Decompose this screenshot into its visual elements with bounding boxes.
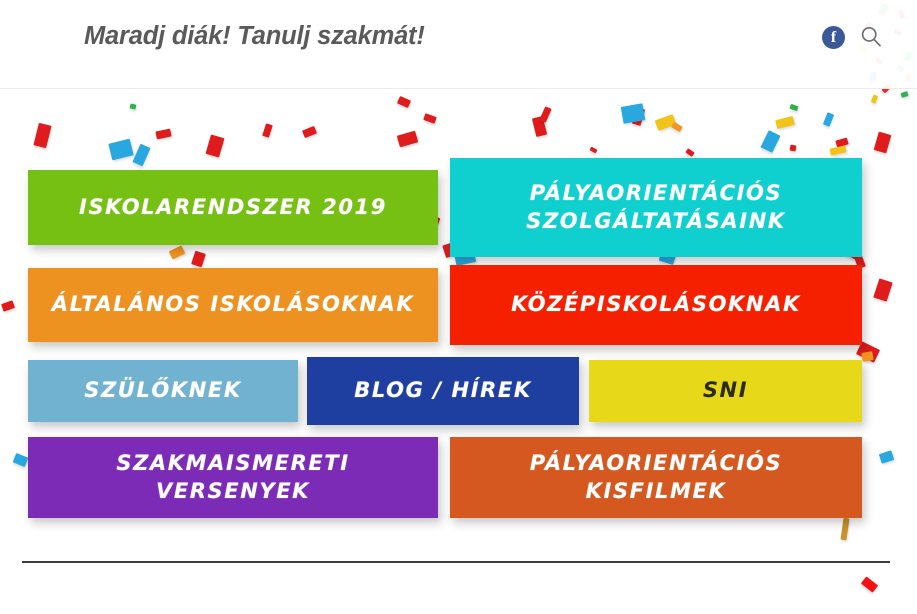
page-root: ISKOLARENDSZER 2019PÁLYAORIENTÁCIÓS SZOL… [0, 0, 917, 614]
tile-szakmaismeretiversenyek[interactable]: SZAKMAISMERETI VERSENYEK [28, 437, 438, 518]
facebook-icon[interactable]: f [822, 26, 845, 49]
tile-pályaorientációsszolgáltatásaink[interactable]: PÁLYAORIENTÁCIÓS SZOLGÁLTATÁSAINK [450, 158, 862, 257]
header-icon-group: f [822, 25, 883, 49]
tile-label: PÁLYAORIENTÁCIÓS SZOLGÁLTATÁSAINK [526, 180, 786, 235]
tile-label: SZAKMAISMERETI VERSENYEK [116, 450, 349, 505]
tile-label: BLOG / HÍREK [354, 377, 531, 405]
tile-iskolarendszer-2019[interactable]: ISKOLARENDSZER 2019 [28, 170, 438, 245]
tile-sni[interactable]: SNI [589, 360, 862, 422]
tile-label: KÖZÉPISKOLÁSOKNAK [511, 291, 801, 319]
tile-label: ÁLTALÁNOS ISKOLÁSOKNAK [52, 291, 415, 319]
tile-általános-iskolásoknak[interactable]: ÁLTALÁNOS ISKOLÁSOKNAK [28, 268, 438, 342]
header-divider [0, 88, 917, 89]
search-icon[interactable] [859, 25, 883, 49]
page-title: Maradj diák! Tanulj szakmát! [84, 22, 425, 51]
tile-label: SNI [703, 377, 748, 405]
site-header: Maradj diák! Tanulj szakmát! f [0, 0, 917, 88]
tile-label: PÁLYAORIENTÁCIÓS KISFILMEK [460, 450, 852, 505]
tile-középiskolásoknak[interactable]: KÖZÉPISKOLÁSOKNAK [450, 265, 862, 345]
tile-szülőknek[interactable]: SZÜLŐKNEK [28, 360, 298, 422]
tile-pályaorientációs-kisfilmek[interactable]: PÁLYAORIENTÁCIÓS KISFILMEK [450, 437, 862, 518]
bottom-divider [22, 561, 890, 563]
tile-blog-hírek[interactable]: BLOG / HÍREK [307, 357, 579, 425]
tile-label: SZÜLŐKNEK [84, 377, 242, 405]
tile-label: ISKOLARENDSZER 2019 [79, 194, 387, 222]
tile-grid: ISKOLARENDSZER 2019PÁLYAORIENTÁCIÓS SZOL… [0, 0, 917, 614]
